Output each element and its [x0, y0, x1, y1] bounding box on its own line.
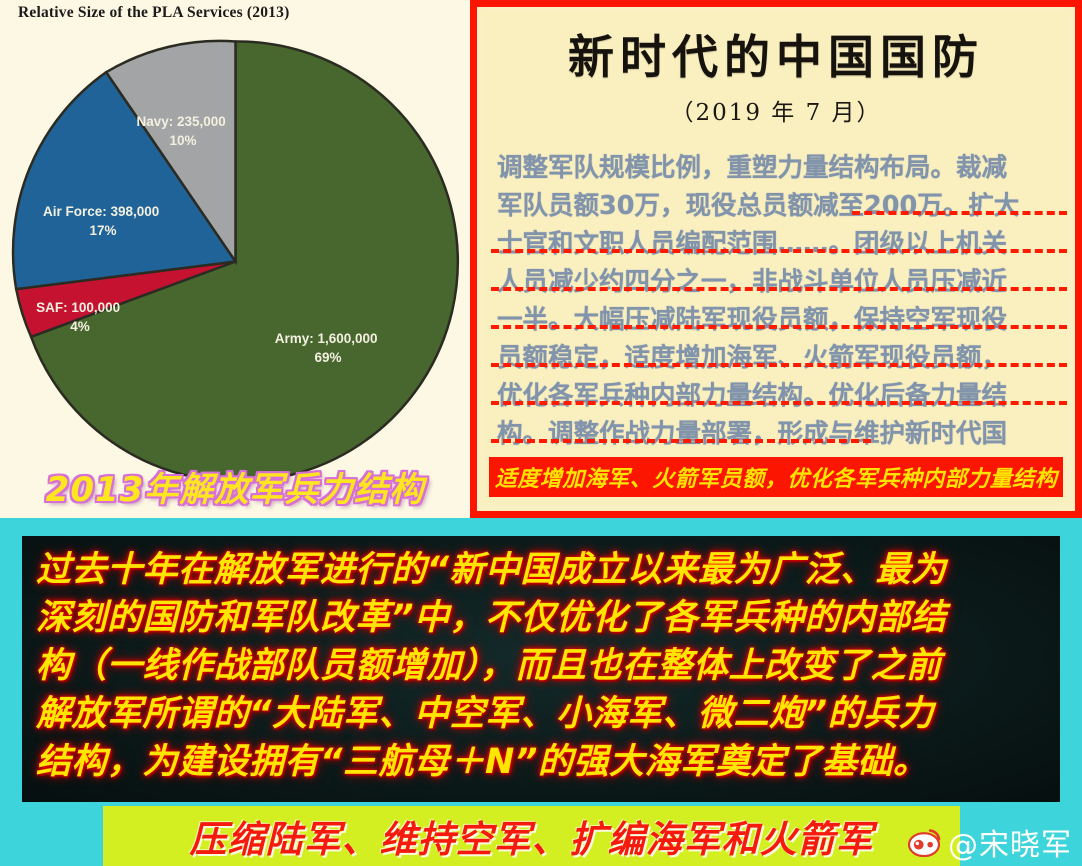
commentary-line: 结构，为建设拥有“三航母＋N”的强大海军奠定了基础。 [36, 738, 1048, 786]
document-line: 士官和文职人员编配范围……。团级以上机关 [497, 225, 1057, 263]
document-panel: 新时代的中国国防 （2019 年 7 月） 调整军队规模比例，重塑力量结构布局。… [470, 0, 1082, 518]
document-line: 构。调整作战力量部署，形成与维护新时代国 [497, 415, 1057, 453]
commentary-line: 构（一线作战部队员额增加），而且也在整体上改变了之前 [36, 642, 1048, 690]
document-line: 调整军队规模比例，重塑力量结构布局。裁减 [497, 149, 1057, 187]
document-line: 军队员额30万，现役总员额减至200万。扩大 [497, 187, 1057, 225]
document-body: 调整军队规模比例，重塑力量结构布局。裁减 军队员额30万，现役总员额减至200万… [497, 149, 1057, 491]
document-date: （2019 年 7 月） [483, 93, 1069, 127]
commentary-text: 过去十年在解放军进行的“新中国成立以来最为广泛、最为 深刻的国防和军队改革”中，… [22, 536, 1060, 786]
commentary-line: 解放军所谓的“大陆军、中空军、小海军、微二炮”的兵力 [36, 690, 1048, 738]
chart-caption: 2013年解放军兵力结构 [0, 462, 470, 511]
weibo-icon [906, 827, 942, 857]
pie-chart-panel: Relative Size of the PLA Services (2013)… [0, 0, 470, 518]
document-paper: 新时代的中国国防 （2019 年 7 月） 调整军队规模比例，重塑力量结构布局。… [483, 11, 1069, 507]
bottom-caption-bar: 压缩陆军、维持空军、扩编海军和火箭军 [103, 806, 960, 866]
document-line: 一半。大幅压减陆军现役员额，保持空军现役 [497, 301, 1057, 339]
watermark-handle: @宋晓军 [948, 820, 1072, 864]
document-line: 人员减少约四分之一，非战斗单位人员压减近 [497, 263, 1057, 301]
bottom-caption-text: 压缩陆军、维持空军、扩编海军和火箭军 [190, 809, 874, 863]
document-highlight-banner: 适度增加海军、火箭军员额，优化各军兵种内部力量结构 [489, 457, 1063, 497]
watermark: @宋晓军 [952, 820, 1072, 864]
document-title: 新时代的中国国防 [483, 21, 1069, 87]
pie-chart-svg: Navy: 235,000 10% Air Force: 398,000 17%… [8, 34, 463, 489]
page-title: Relative Size of the PLA Services (2013) [18, 4, 289, 22]
document-line: 员额稳定，适度增加海军、火箭军现役员额， [497, 339, 1057, 377]
document-line: 优化各军兵种内部力量结构。优化后备力量结 [497, 377, 1057, 415]
pie-chart: Navy: 235,000 10% Air Force: 398,000 17%… [8, 34, 463, 489]
document-highlight-text: 适度增加海军、火箭军员额，优化各军兵种内部力量结构 [495, 461, 1058, 493]
commentary-panel: 过去十年在解放军进行的“新中国成立以来最为广泛、最为 深刻的国防和军队改革”中，… [22, 536, 1060, 802]
commentary-line: 过去十年在解放军进行的“新中国成立以来最为广泛、最为 [36, 546, 1048, 594]
top-area: Relative Size of the PLA Services (2013)… [0, 0, 1082, 518]
commentary-line: 深刻的国防和军队改革”中，不仅优化了各军兵种的内部结 [36, 594, 1048, 642]
